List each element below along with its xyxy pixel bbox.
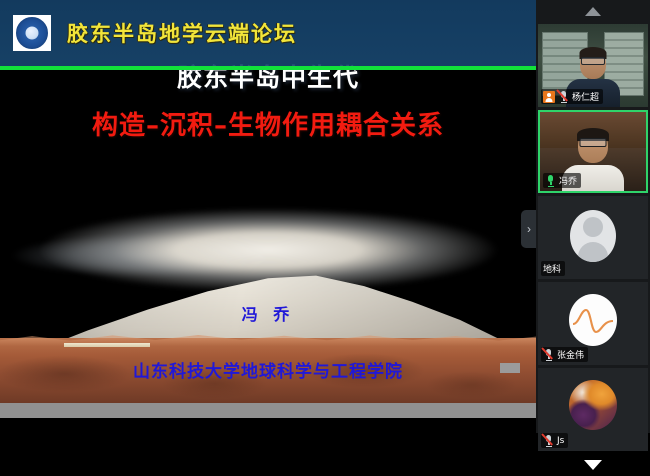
participant-name: Js xyxy=(557,436,564,446)
participant-panel: 杨仁超 冯乔 地科 xyxy=(536,0,650,433)
mic-on-icon xyxy=(545,174,556,187)
forum-banner: 胶东半岛地学云端论坛 xyxy=(0,0,536,66)
participant-tile[interactable]: 杨仁超 xyxy=(538,24,648,107)
participant-name: 杨仁超 xyxy=(572,90,599,103)
terrain-ledge xyxy=(64,343,150,347)
photo-avatar-icon xyxy=(569,380,617,430)
participant-name-bar: Js xyxy=(541,433,568,448)
presentation-slide: 胶东半岛中生代 构造–沉积–生物作用耦合关系 冯 乔 山东科技大学地球科学与工程… xyxy=(0,20,536,403)
render-artifact xyxy=(500,363,520,373)
participant-tile[interactable]: 张金伟 xyxy=(538,282,648,365)
triangle-up-icon xyxy=(585,7,601,16)
slide-bottom-bar xyxy=(0,403,536,418)
mic-muted-icon xyxy=(543,434,554,447)
banner-divider xyxy=(0,66,536,70)
participant-name: 张金伟 xyxy=(557,348,584,361)
collapse-panel-button[interactable]: › xyxy=(521,210,536,248)
triangle-down-icon xyxy=(584,460,602,470)
slide-subtitle: 构造–沉积–生物作用耦合关系 xyxy=(0,105,536,142)
shared-screen-area: 胶东半岛中生代 构造–沉积–生物作用耦合关系 冯 乔 山东科技大学地球科学与工程… xyxy=(0,0,536,433)
user-orange-icon xyxy=(543,91,555,103)
participant-tile-active-speaker[interactable]: 冯乔 xyxy=(538,110,648,193)
banner-title: 胶东半岛地学云端论坛 xyxy=(67,18,297,48)
meeting-screen: 胶东半岛中生代 构造–沉积–生物作用耦合关系 冯 乔 山东科技大学地球科学与工程… xyxy=(0,0,650,433)
participant-tile[interactable]: Js xyxy=(538,368,648,451)
participant-name-bar: 张金伟 xyxy=(541,347,588,362)
participant-name: 冯乔 xyxy=(559,174,577,187)
mic-muted-icon xyxy=(558,90,569,103)
default-avatar-icon xyxy=(570,210,616,262)
mic-muted-icon xyxy=(543,348,554,361)
participant-name-bar: 杨仁超 xyxy=(541,89,603,104)
waveform-avatar-icon xyxy=(569,294,617,346)
participant-tile[interactable]: 地科 xyxy=(538,196,648,279)
participant-name-bar: 地科 xyxy=(541,261,565,276)
slide-presenter-name: 冯 乔 xyxy=(0,301,536,325)
scroll-down-button[interactable] xyxy=(536,454,650,476)
slide-affiliation: 山东科技大学地球科学与工程学院 xyxy=(0,357,536,382)
participant-name: 地科 xyxy=(543,262,561,275)
participant-name-bar: 冯乔 xyxy=(543,173,581,188)
scroll-up-button[interactable] xyxy=(536,0,650,22)
university-seal-icon xyxy=(13,15,51,51)
